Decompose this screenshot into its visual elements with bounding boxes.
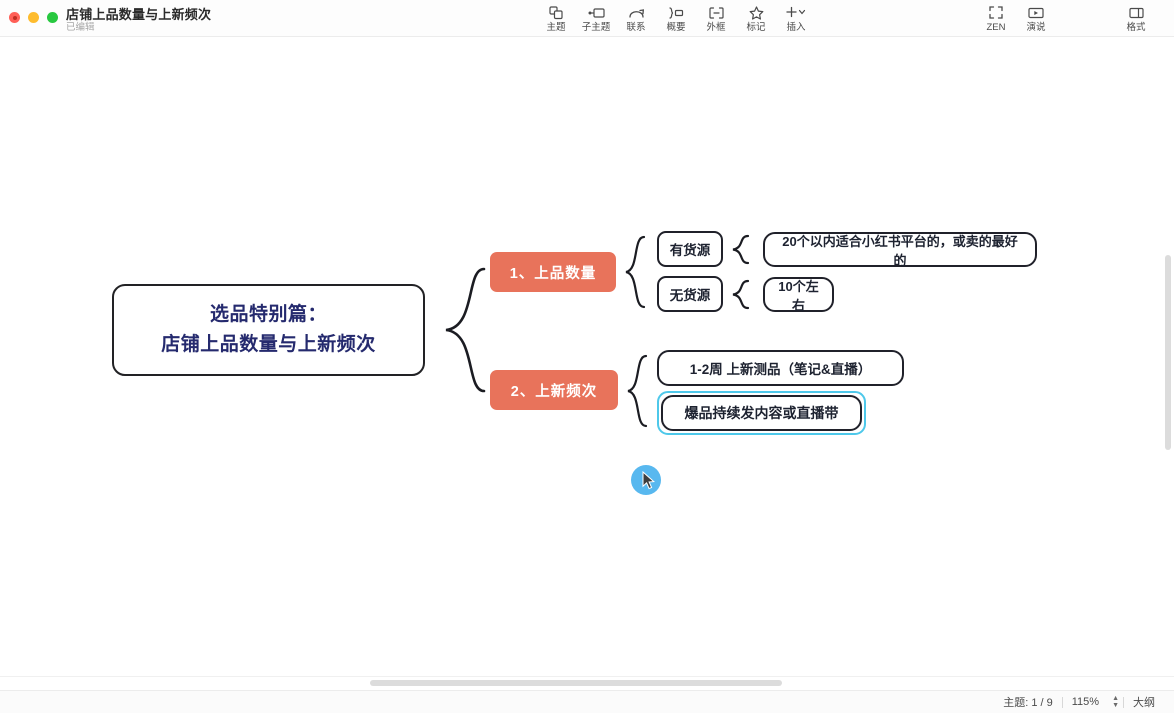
toolbar-label-topic: 主题	[546, 22, 565, 33]
brace-branch2-to-children	[624, 353, 654, 431]
zoom-stepper[interactable]: ▲ ▼	[1108, 696, 1123, 709]
toolbar-button-format[interactable]: 格式	[1116, 1, 1156, 37]
brace-wuhuoyuan-to-leaf	[729, 278, 755, 312]
toolbar-label-summary: 概要	[666, 22, 685, 33]
leaf-node-hot-product-content[interactable]: 爆品持续发内容或直播带	[661, 395, 862, 431]
plus-icon	[785, 5, 807, 20]
mindmap-canvas[interactable]: 选品特别篇： 店铺上品数量与上新频次 1、上品数量 2、上新频次 有货源 无货源…	[0, 37, 1174, 676]
leaf-node-has-supply-detail[interactable]: 20个以内适合小红书平台的，或卖的最好的	[763, 232, 1037, 267]
toolbar-label-insert: 插入	[786, 22, 805, 33]
toolbar-button-insert[interactable]: 插入	[776, 1, 816, 37]
toolbar-button-relationship[interactable]: 联系	[616, 1, 656, 37]
toolbar-label-relationship: 联系	[626, 22, 645, 33]
status-bar: 主题: 1 / 9 115% ▲ ▼ 大纲	[0, 690, 1174, 713]
chevron-down-icon[interactable]: ▼	[1112, 703, 1119, 709]
window-title-bar: 店铺上品数量与上新频次 已编辑 主题 子主题	[0, 0, 1174, 37]
traffic-light-group	[9, 12, 58, 23]
topic-icon	[549, 5, 564, 20]
toolbar-button-zen[interactable]: ZEN	[976, 1, 1016, 37]
document-edit-status: 已编辑	[66, 19, 95, 33]
toolbar-label-marker: 标记	[746, 22, 765, 33]
horizontal-scrollbar-thumb[interactable]	[370, 680, 782, 686]
toolbar-right-group: ZEN 演说 格式	[976, 1, 1156, 37]
mouse-cursor-icon	[642, 471, 656, 490]
zen-fullscreen-icon	[989, 5, 1003, 20]
toolbar-label-zen: ZEN	[987, 22, 1006, 33]
brace-youhuoyuan-to-leaf	[729, 233, 755, 267]
relationship-icon	[628, 5, 645, 20]
central-topic-node[interactable]: 选品特别篇： 店铺上品数量与上新频次	[112, 284, 425, 376]
toolbar-label-presentation: 演说	[1026, 22, 1045, 33]
leaf-node-no-supply-detail[interactable]: 10个左右	[763, 277, 834, 312]
toolbar-left-group: 主题 子主题 联系	[536, 1, 816, 37]
close-window-button[interactable]	[9, 12, 20, 23]
format-panel-icon	[1129, 5, 1144, 20]
presentation-play-icon	[1028, 5, 1044, 20]
chevron-up-icon[interactable]: ▲	[1112, 696, 1119, 702]
marker-star-icon	[749, 5, 764, 20]
zoom-level-label: 115%	[1063, 696, 1108, 708]
outline-view-button[interactable]: 大纲	[1124, 694, 1164, 710]
branch-node-1[interactable]: 1、上品数量	[490, 252, 616, 292]
toolbar-button-summary[interactable]: 概要	[656, 1, 696, 37]
brace-branch1-to-children	[622, 234, 652, 312]
toolbar-button-presentation[interactable]: 演说	[1016, 1, 1056, 37]
summary-icon	[668, 5, 684, 20]
maximize-window-button[interactable]	[47, 12, 58, 23]
toolbar-button-marker[interactable]: 标记	[736, 1, 776, 37]
branch-node-2[interactable]: 2、上新频次	[490, 370, 618, 410]
minimize-window-button[interactable]	[28, 12, 39, 23]
toolbar-button-boundary[interactable]: 外框	[696, 1, 736, 37]
sub-node-no-supply[interactable]: 无货源	[657, 276, 723, 312]
sub-node-has-supply[interactable]: 有货源	[657, 231, 723, 267]
leaf-node-new-product-test[interactable]: 1-2周 上新测品（笔记&直播）	[657, 350, 904, 386]
toolbar-button-subtopic[interactable]: 子主题	[576, 1, 616, 37]
topic-count-label: 主题: 1 / 9	[994, 694, 1062, 710]
subtopic-icon	[588, 5, 605, 20]
toolbar-label-boundary: 外框	[706, 22, 725, 33]
boundary-icon	[709, 5, 724, 20]
toolbar-label-format: 格式	[1126, 22, 1145, 33]
toolbar-button-topic[interactable]: 主题	[536, 1, 576, 37]
vertical-scrollbar-thumb[interactable]	[1165, 255, 1171, 450]
toolbar-label-subtopic: 子主题	[582, 22, 611, 33]
